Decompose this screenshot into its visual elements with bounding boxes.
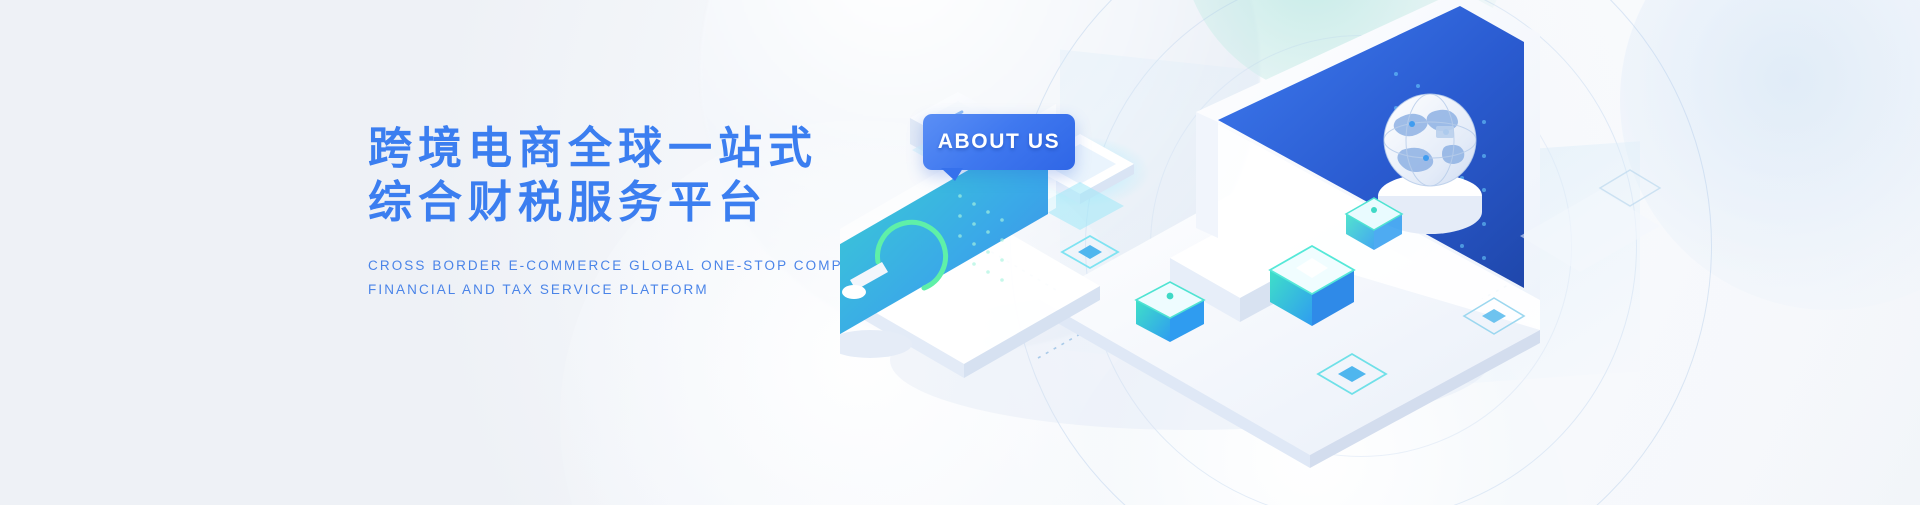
isometric-illustration: [840, 0, 1920, 505]
headline-line-1: 跨境电商全球一站式: [368, 124, 818, 173]
about-us-badge: ABOUT US: [923, 114, 1075, 170]
badge-label: ABOUT US: [923, 114, 1075, 170]
about-us-banner: 跨境电商全球一站式 综合财税服务平台 CROSS BORDER E-COMMER…: [0, 0, 1920, 505]
